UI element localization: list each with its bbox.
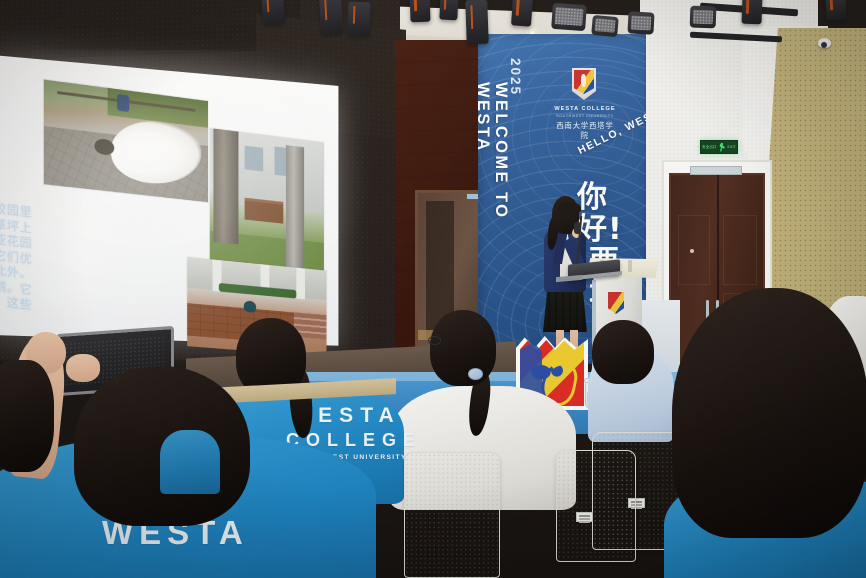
photo-bench <box>245 198 284 224</box>
crest-figure <box>581 74 586 86</box>
running-man-icon <box>719 143 726 152</box>
stage-light-icon <box>347 2 370 37</box>
photo-peacock-plaza <box>244 300 257 313</box>
slide-photo-peacock <box>43 78 209 203</box>
crest-college-name: WESTA COLLEGE <box>554 106 616 112</box>
door-transom <box>690 166 742 175</box>
audience-head <box>592 320 654 384</box>
photo-person <box>117 94 129 112</box>
projection-screen: 校园里 草坪上 亚花园 它们优 此外。 鹅。它 。这些 <box>0 55 338 346</box>
slide-body-text: 校园里 草坪上 亚花园 它们优 此外。 鹅。它 。这些 <box>0 201 49 315</box>
door-knob[interactable] <box>690 249 694 253</box>
chair-label <box>576 512 593 522</box>
exit-sign-label-en: EXIT <box>728 145 736 149</box>
eyeglasses-icon <box>428 336 441 345</box>
door-panel <box>678 215 710 285</box>
photo-column <box>297 268 305 300</box>
photo-pillar <box>286 145 304 269</box>
banner-welcome-line2: WESTA <box>478 82 492 152</box>
banner-year: 2025 <box>508 58 523 96</box>
exit-sign: 安全出口 EXIT <box>700 140 738 154</box>
par-can-light-icon <box>591 15 619 37</box>
door-panel <box>723 215 757 285</box>
photo-tree-trunk <box>213 128 239 244</box>
crest-university-name: SOUTHWEST UNIVERSITY <box>554 114 616 118</box>
audience-head <box>672 288 866 538</box>
auditorium-scene: 安全出口 EXIT 2025 WELCOME TO WESTA WESTA CO… <box>0 0 866 578</box>
audience-torso <box>160 430 220 494</box>
stage-light-icon <box>409 0 430 22</box>
exit-sign-label-cn: 安全出口 <box>702 145 716 149</box>
security-camera-icon <box>818 38 831 48</box>
stage-light-icon <box>261 0 285 25</box>
audience-head <box>430 310 496 386</box>
speaker-bangs <box>558 202 581 214</box>
slide-photo-tree <box>209 127 325 272</box>
stage-light-icon <box>741 0 762 24</box>
crest-shield <box>574 70 594 94</box>
finger <box>66 354 100 382</box>
photo-tree-pillar <box>210 128 324 271</box>
left-acoustic-wall-top <box>0 0 300 60</box>
stage-light-icon <box>439 0 458 20</box>
photo-window <box>245 145 263 171</box>
lectern-notch <box>628 260 632 272</box>
par-can-light-icon <box>690 6 717 29</box>
stage-light-icon <box>511 0 533 27</box>
par-can-light-icon <box>627 11 654 34</box>
stage-light-icon <box>825 0 846 21</box>
par-can-light-icon <box>551 3 587 31</box>
banner-welcome-line1: WELCOME TO <box>491 82 510 219</box>
audience-chair[interactable] <box>404 452 500 578</box>
side-hair <box>0 360 54 472</box>
stage-light-icon <box>465 0 489 44</box>
hair-scrunchie <box>468 368 483 380</box>
chair-label-lines <box>579 515 590 517</box>
photo-peacock <box>44 79 208 202</box>
audience-chair[interactable] <box>556 450 636 562</box>
stage-light-icon <box>319 0 343 35</box>
speaker-skirt <box>543 288 587 332</box>
